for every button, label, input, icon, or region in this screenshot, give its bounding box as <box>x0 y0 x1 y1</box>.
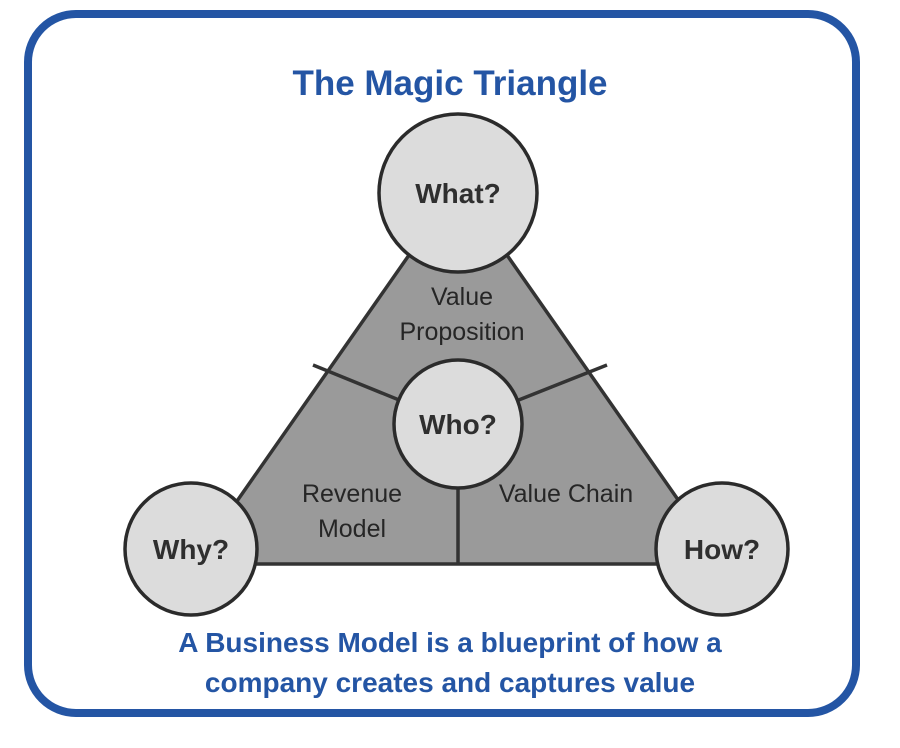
caption-line-2: company creates and captures value <box>205 667 695 698</box>
segment-value-proposition-line1: Value <box>431 283 493 311</box>
segment-revenue-model-line2: Model <box>318 515 386 543</box>
node-who[interactable]: Who? <box>394 360 522 488</box>
node-who-label: Who? <box>419 409 497 440</box>
segment-value-chain-line1: Value Chain <box>499 480 633 508</box>
node-how[interactable]: How? <box>656 483 788 615</box>
diagram-canvas: The Magic Triangle Value Proposition Rev… <box>0 0 900 748</box>
segment-revenue-model-line1: Revenue <box>302 480 402 508</box>
node-why-label: Why? <box>153 534 229 565</box>
node-how-label: How? <box>684 534 760 565</box>
segment-value-proposition-line2: Proposition <box>399 318 524 346</box>
caption-line-1: A Business Model is a blueprint of how a <box>178 627 722 658</box>
page-title: The Magic Triangle <box>292 64 607 103</box>
caption: A Business Model is a blueprint of how a… <box>178 627 722 698</box>
node-what-label: What? <box>415 178 501 209</box>
segment-label-value-chain: Value Chain <box>499 480 633 508</box>
node-what[interactable]: What? <box>379 114 537 272</box>
node-why[interactable]: Why? <box>125 483 257 615</box>
magic-triangle-graphic: The Magic Triangle Value Proposition Rev… <box>0 0 900 748</box>
